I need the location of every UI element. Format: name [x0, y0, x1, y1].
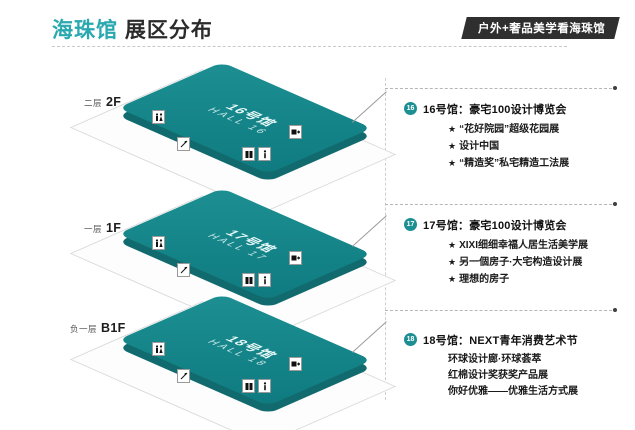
floor-label-b1f-cn: 负一层 [70, 324, 97, 334]
bullet-star-icon: ★ [448, 158, 456, 168]
exit-icon[interactable] [289, 251, 302, 265]
list-item: 红棉设计奖获奖产品展 [448, 368, 629, 384]
description-18-list: 环球设计廊·环球荟萃 红棉设计奖获奖产品展 你好优雅——优雅生活方式展 [448, 352, 629, 400]
page-title: 海珠馆 展区分布 [52, 14, 213, 44]
floor-label-1f-cn: 一层 [84, 224, 102, 234]
list-item: 你好优雅——优雅生活方式展 [448, 384, 629, 400]
description-17-list: ★XIXI细细幸福人居生活美学展 ★另一個房子·大宅构造设计展 ★理想的房子 [448, 237, 629, 288]
bullet-star-icon: ★ [448, 257, 456, 267]
floor-label-2f-cn: 二层 [84, 98, 102, 108]
header-tagline-badge: 户外+奢品美学看海珠馆 [461, 17, 620, 39]
list-item-text: 另一個房子·大宅构造设计展 [459, 257, 582, 268]
hall-badge-16: 16 [404, 102, 417, 115]
description-18-head: 18 18号馆：NEXT青年消费艺术节 [404, 332, 629, 348]
description-block-17: 17 17号馆：豪宅100设计博览会 ★XIXI细细幸福人居生活美学展 ★另一個… [404, 217, 629, 288]
header-divider [52, 46, 567, 47]
list-item: ★设计中国 [448, 138, 629, 155]
list-item: 环球设计廊·环球荟萃 [448, 352, 629, 368]
list-item: ★另一個房子·大宅构造设计展 [448, 254, 629, 271]
description-block-16: 16 16号馆：豪宅100设计博览会 ★“花好院园”超级花园展 ★设计中国 ★“… [404, 101, 629, 172]
bullet-star-icon: ★ [448, 124, 456, 134]
elevator-icon[interactable] [242, 147, 255, 161]
description-17-title: 17号馆：豪宅100设计博览会 [423, 217, 567, 233]
floor-label-b1f: 负一层B1F [70, 319, 126, 337]
description-16-title: 16号馆：豪宅100设计博览会 [423, 101, 567, 117]
list-item: ★“精造奖”私宅精造工法展 [448, 155, 629, 172]
floor-label-b1f-en: B1F [101, 321, 126, 335]
connector-line-b1f [385, 310, 617, 311]
list-item: ★理想的房子 [448, 271, 629, 288]
bullet-star-icon: ★ [448, 141, 456, 151]
level-b1f-plate: 18号馆 HALL 18 [130, 280, 430, 430]
connector-dot-2f [613, 86, 617, 90]
information-icon[interactable] [258, 147, 271, 161]
escalator-icon[interactable] [177, 369, 190, 383]
description-16-list: ★“花好院园”超级花园展 ★设计中国 ★“精造奖”私宅精造工法展 [448, 121, 629, 172]
restroom-icon[interactable] [152, 110, 165, 124]
connector-dot-b1f [613, 308, 617, 312]
list-item-text: “精造奖”私宅精造工法展 [459, 158, 569, 169]
list-item-text: 理想的房子 [459, 274, 509, 285]
description-16-head: 16 16号馆：豪宅100设计博览会 [404, 101, 629, 117]
header-tagline-text: 户外+奢品美学看海珠馆 [478, 20, 605, 36]
information-icon[interactable] [258, 379, 271, 393]
connector-line-1f [385, 204, 617, 205]
level-b1f[interactable]: 18号馆 HALL 18 [130, 280, 430, 430]
restroom-icon[interactable] [152, 236, 165, 250]
list-item-text: 设计中国 [459, 141, 499, 152]
exit-icon[interactable] [289, 357, 302, 371]
hall-badge-18: 18 [404, 333, 417, 346]
elevator-icon[interactable] [242, 379, 255, 393]
restroom-icon[interactable] [152, 342, 165, 356]
connector-line-2f [385, 88, 617, 89]
exhibition-floor-map: 海珠馆 展区分布 户外+奢品美学看海珠馆 二层2F 16号馆 HALL 16 [0, 0, 635, 430]
list-item: ★XIXI细细幸福人居生活美学展 [448, 237, 629, 254]
page-title-venue: 海珠馆 [52, 19, 118, 42]
page-title-subject: 展区分布 [125, 19, 213, 42]
escalator-icon[interactable] [177, 263, 190, 277]
page-header: 海珠馆 展区分布 户外+奢品美学看海珠馆 [0, 0, 635, 52]
escalator-icon[interactable] [177, 137, 190, 151]
list-item: ★“花好院园”超级花园展 [448, 121, 629, 138]
description-block-18: 18 18号馆：NEXT青年消费艺术节 环球设计廊·环球荟萃 红棉设计奖获奖产品… [404, 332, 629, 400]
bullet-star-icon: ★ [448, 240, 456, 250]
description-17-head: 17 17号馆：豪宅100设计博览会 [404, 217, 629, 233]
list-item-text: XIXI细细幸福人居生活美学展 [459, 240, 588, 251]
hall-badge-17: 17 [404, 218, 417, 231]
bullet-star-icon: ★ [448, 274, 456, 284]
list-item-text: “花好院园”超级花园展 [459, 124, 559, 135]
description-18-title: 18号馆：NEXT青年消费艺术节 [423, 332, 578, 348]
connector-dot-1f [613, 202, 617, 206]
exit-icon[interactable] [289, 125, 302, 139]
